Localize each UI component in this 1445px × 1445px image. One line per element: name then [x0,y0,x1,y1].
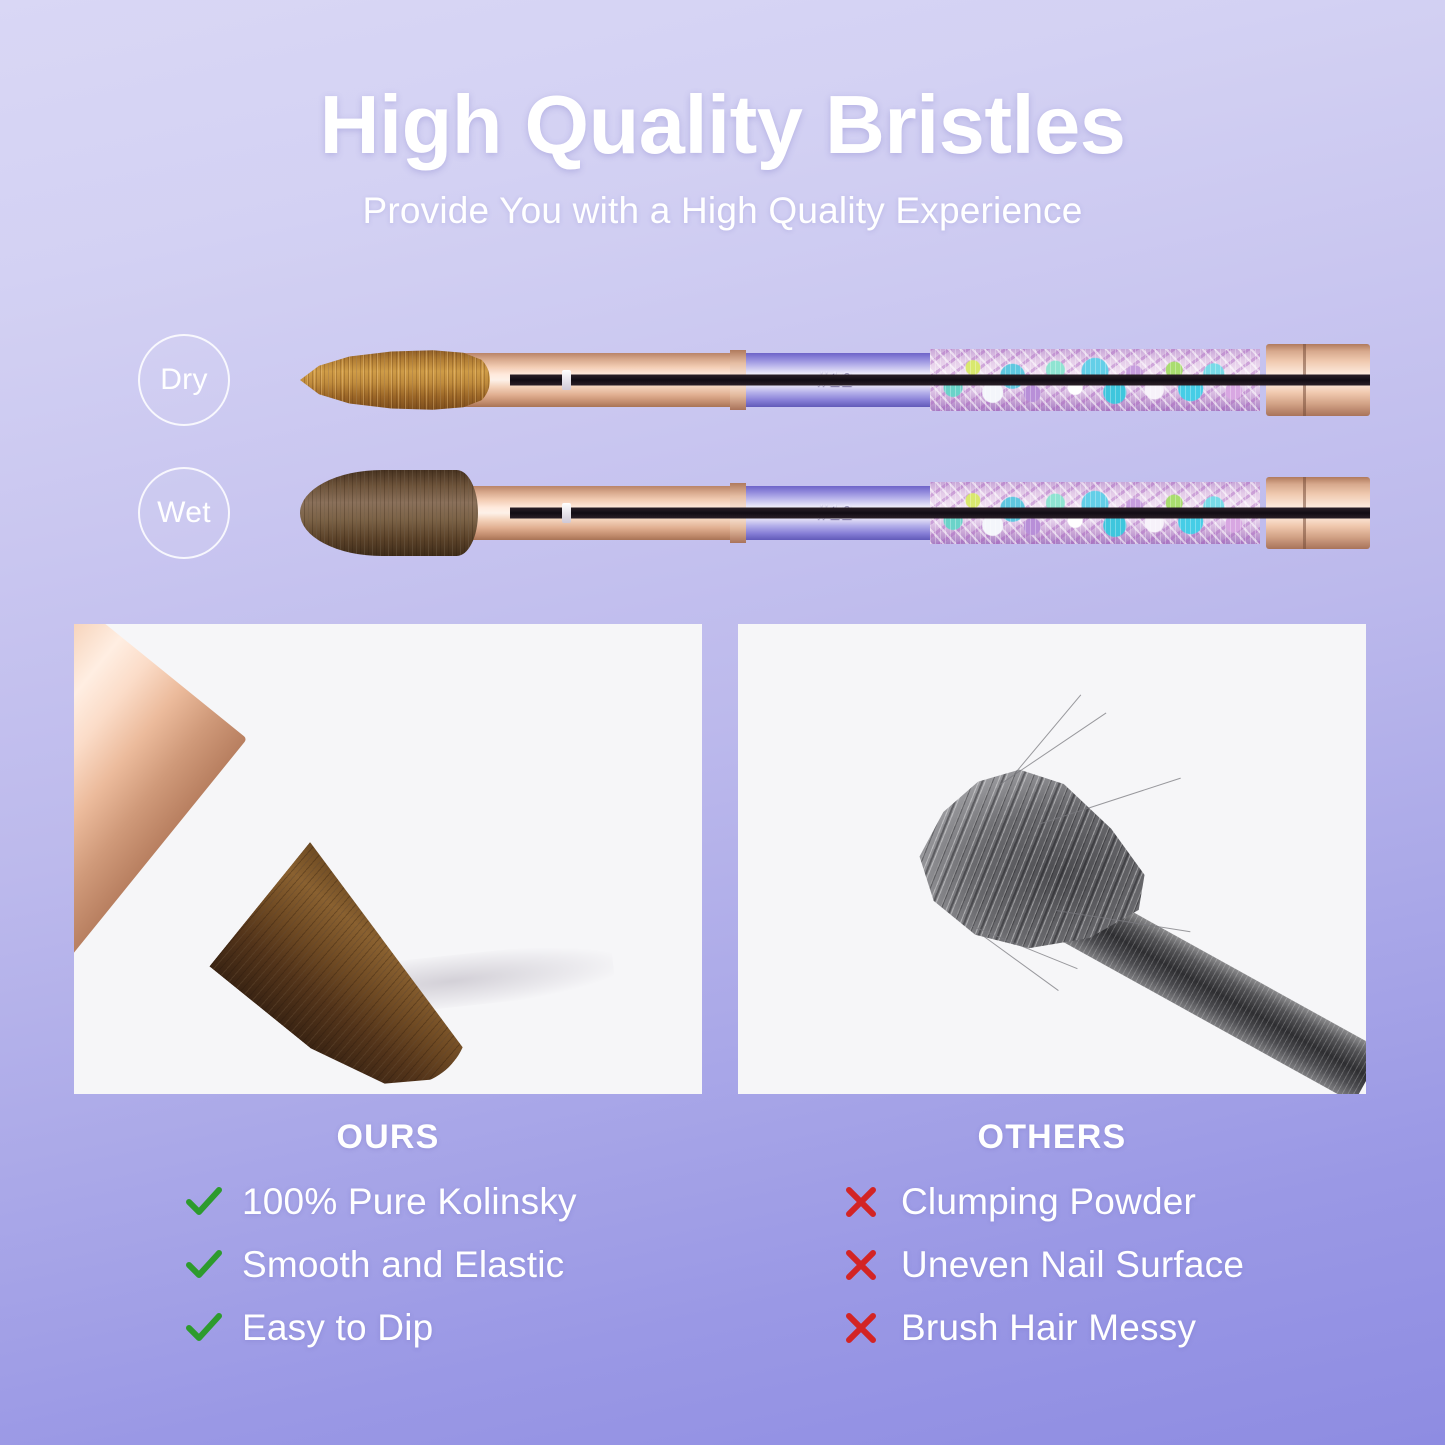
state-badge-dry: Dry [138,334,230,426]
list-item: Brush Hair Messy [845,1296,1244,1359]
page-subtitle: Provide You with a High Quality Experien… [0,190,1445,232]
brush-row-dry: Dry #12 [0,315,1445,445]
check-icon [186,1313,242,1343]
page-title: High Quality Bristles [0,82,1445,168]
header: High Quality Bristles Provide You with a… [0,82,1445,232]
state-badge-wet: Wet [138,467,230,559]
state-badge-dry-label: Dry [160,363,208,397]
brush-rod-line-dry [510,375,1370,386]
brush-rod-pin-wet [562,503,571,523]
list-item-label: Smooth and Elastic [242,1244,564,1286]
stray-hair [1000,713,1107,785]
list-item: Uneven Nail Surface [845,1233,1244,1296]
check-icon [186,1250,242,1280]
list-item-label: Clumping Powder [901,1181,1196,1223]
photo-ours-content [74,624,702,1094]
column-heading-others: OTHERS [738,1118,1366,1157]
photo-others-content [738,624,1366,1094]
brush-bristles-wet-icon [300,470,478,556]
check-icon [186,1187,242,1217]
brush-illustration-dry: #12 [300,327,1370,433]
list-item-label: Easy to Dip [242,1307,433,1349]
cross-icon [845,1187,901,1217]
list-item: Easy to Dip [186,1296,577,1359]
list-item-label: Uneven Nail Surface [901,1244,1244,1286]
feature-list-others: Clumping Powder Uneven Nail Surface Brus… [845,1170,1244,1359]
list-item: Smooth and Elastic [186,1233,577,1296]
feature-list-ours: 100% Pure Kolinsky Smooth and Elastic Ea… [186,1170,577,1359]
brush-illustration-wet: #12 [300,460,1370,566]
column-heading-ours: OURS [74,1118,702,1157]
brush-rod-line-wet [510,508,1370,519]
list-item: Clumping Powder [845,1170,1244,1233]
list-item-label: Brush Hair Messy [901,1307,1196,1349]
comparison-photo-ours [74,624,702,1094]
state-badge-wet-label: Wet [157,496,211,530]
infographic-page: High Quality Bristles Provide You with a… [0,0,1445,1445]
brush-rod-pin-dry [562,370,571,390]
cross-icon [845,1250,901,1280]
cross-icon [845,1313,901,1343]
list-item: 100% Pure Kolinsky [186,1170,577,1233]
list-item-label: 100% Pure Kolinsky [242,1181,577,1223]
brush-bristles-dry-icon [300,349,490,411]
brush-row-wet: Wet #12 [0,448,1445,578]
comparison-photo-others [738,624,1366,1094]
